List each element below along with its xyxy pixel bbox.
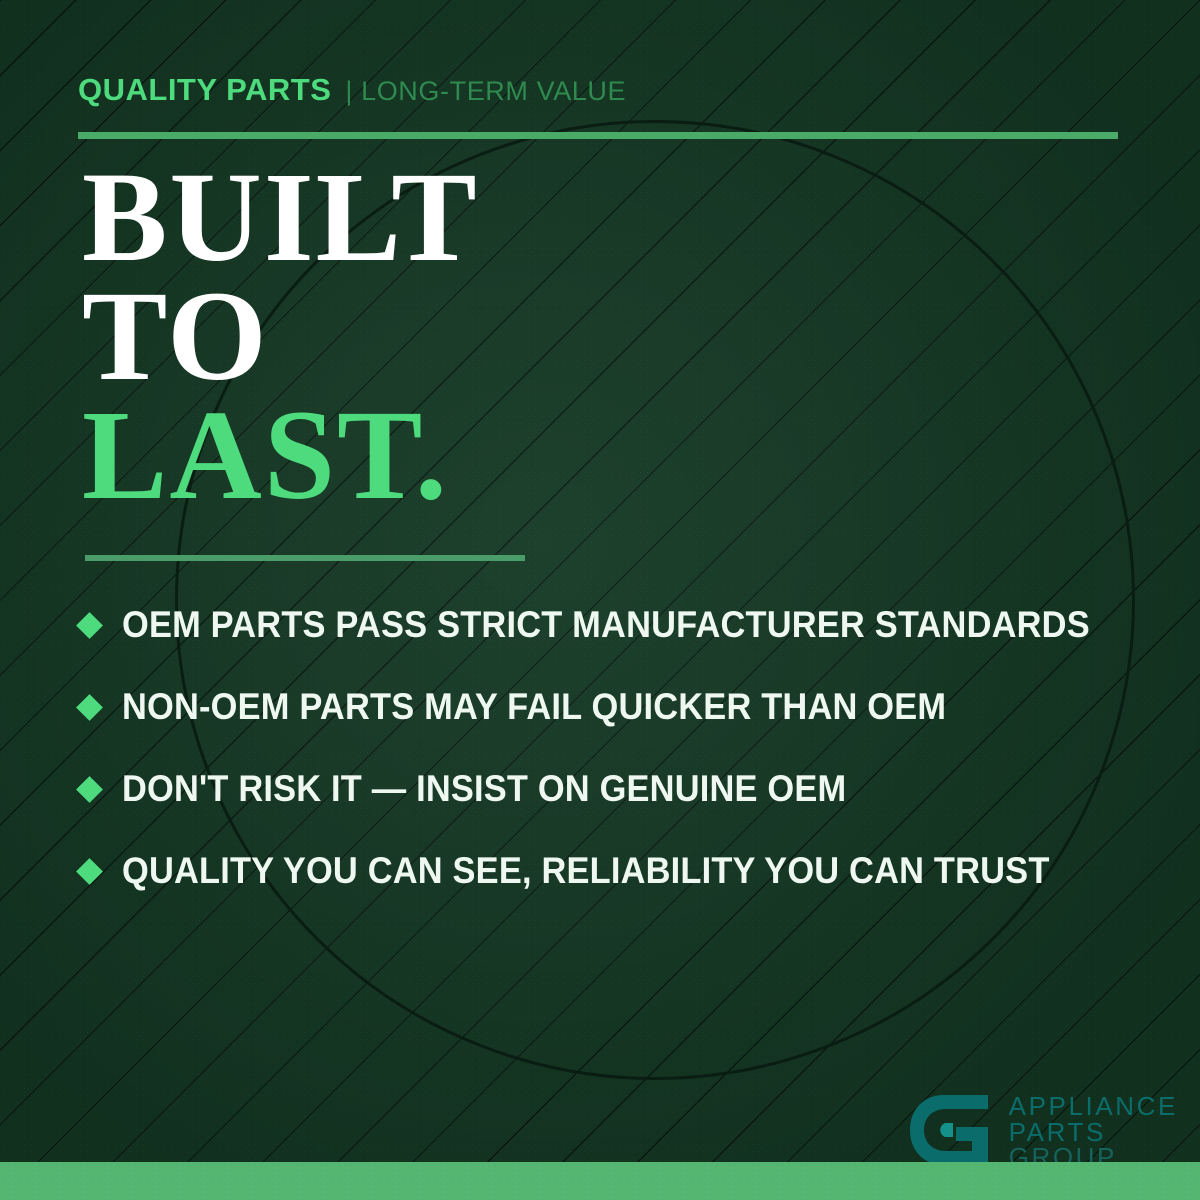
bottom-accent-bar — [0, 1162, 1200, 1200]
list-item: DON'T RISK IT — INSIST ON GENUINE OEM — [80, 748, 1170, 830]
list-item: NON-OEM PARTS MAY FAIL QUICKER THAN OEM — [80, 666, 1170, 748]
diamond-bullet-icon — [76, 776, 103, 803]
list-item-label: DON'T RISK IT — INSIST ON GENUINE OEM — [122, 768, 846, 810]
diamond-bullet-icon — [76, 694, 103, 721]
diamond-bullet-icon — [76, 858, 103, 885]
header: QUALITY PARTS | LONG-TERM VALUE — [78, 72, 1122, 139]
logo-word-appliance: APPLIANCE — [1009, 1094, 1178, 1120]
bottom-bar-texture — [0, 1162, 1200, 1200]
list-item-label: OEM PARTS PASS STRICT MANUFACTURER STAND… — [122, 604, 1090, 646]
list-item-label: QUALITY YOU CAN SEE, RELIABILITY YOU CAN… — [122, 850, 1050, 892]
list-item-label: NON-OEM PARTS MAY FAIL QUICKER THAN OEM — [122, 686, 946, 728]
header-divider-rule — [78, 132, 1118, 139]
kicker: QUALITY PARTS | LONG-TERM VALUE — [78, 72, 1122, 108]
headline-line-1: BUILT — [82, 158, 479, 277]
benefit-list: OEM PARTS PASS STRICT MANUFACTURER STAND… — [80, 584, 1170, 912]
brand-logo-wordmark: APPLIANCE PARTS GROUP — [1009, 1094, 1178, 1171]
poster-canvas: QUALITY PARTS | LONG-TERM VALUE BUILT TO… — [0, 0, 1200, 1200]
diamond-bullet-icon — [76, 612, 103, 639]
headline-line-3: LAST. — [82, 396, 479, 515]
kicker-sub-label: | LONG-TERM VALUE — [345, 76, 626, 107]
kicker-main-label: QUALITY PARTS — [78, 72, 331, 108]
list-item: OEM PARTS PASS STRICT MANUFACTURER STAND… — [80, 584, 1170, 666]
headline-line-2: TO — [82, 277, 479, 396]
headline-underline-rule — [85, 555, 525, 561]
list-item: QUALITY YOU CAN SEE, RELIABILITY YOU CAN… — [80, 830, 1170, 912]
page-title: BUILT TO LAST. — [82, 158, 479, 515]
